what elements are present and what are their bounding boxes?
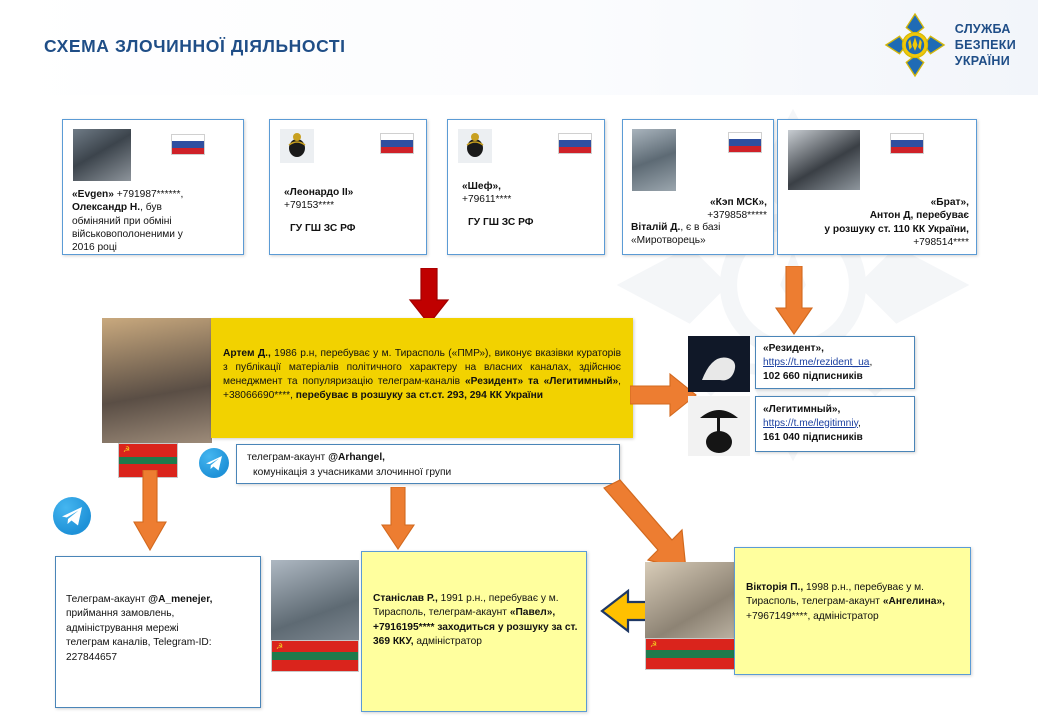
person-photo: [73, 129, 131, 181]
arrow-top-to-channels: [772, 266, 816, 338]
sbu-logo-text: СЛУЖБА БЕЗПЕКИ УКРАЇНИ: [955, 21, 1016, 69]
transnistria-flag-icon: ☭: [645, 638, 737, 670]
arhangel-handle: @Arhangel,: [328, 452, 385, 463]
channel-subscribers: 161 040 пiдписникiв: [763, 432, 863, 443]
account-line-4: телеграм каналiв, Telegram-ID:: [66, 637, 212, 648]
phone: +79611****: [462, 194, 511, 205]
telegram-icon-standalone: [53, 497, 91, 535]
center-wanted: перебуває в розшуку за ст.ст. 293, 294 К…: [296, 390, 543, 401]
account-line-2: приймання замовлень,: [66, 608, 174, 619]
nickname: «Шеф»,: [462, 181, 501, 192]
arhangel-account-box[interactable]: телеграм-акаунт @Arhangel, комунiкацiя з…: [236, 444, 620, 484]
person-card-evgen[interactable]: «Evgen» +791987******, Олександр Н., був…: [62, 119, 244, 255]
channel-info: «Легитимный», https://t.me/legitimniy, 1…: [763, 403, 915, 444]
person-details: «Evgen» +791987******, Олександр Н., був…: [72, 188, 240, 254]
channel-card-legitimniy[interactable]: «Легитимный», https://t.me/legitimniy, 1…: [755, 396, 915, 452]
nickname: «Леонардо II»: [284, 187, 353, 198]
person-card-stanislav[interactable]: Станiслав Р., 1991 р.н., перебуває у м. …: [361, 551, 587, 712]
desc-line-3: обмiняний при обмiнi: [72, 216, 172, 227]
person-card-leonardo[interactable]: «Леонардо II» +79153**** ГУ ГШ ЗС РФ: [269, 119, 427, 255]
unit: ГУ ГШ ЗС РФ: [468, 217, 533, 228]
desc-line-4: вiйськовополоненими у: [72, 229, 183, 240]
logo-line-2: БЕЗПЕКИ: [955, 37, 1016, 53]
person-card-kep-msk[interactable]: «Кэп МСК», +379858***** Вiталiй Д., є в …: [622, 119, 774, 255]
person-details: Вiталiй Д., є в базi «Миротворець»: [631, 221, 775, 248]
account-label: Телеграм-акаунт: [66, 594, 148, 605]
channel-link[interactable]: https://t.me/legitimniy: [763, 418, 858, 429]
nickname: «Брат»,: [931, 197, 969, 208]
account-handle: @A_menejer,: [148, 594, 212, 605]
telegram-icon: [199, 448, 229, 478]
desc-part: , є в базi: [680, 222, 720, 233]
infographic-page: СХЕМА ЗЛОЧИННОЇ ДІЯЛЬНОСТІ СЛУЖБА БЕЗПЕК…: [0, 0, 1038, 718]
person-photo: [632, 129, 676, 191]
channel-avatar-legitimniy: [688, 396, 750, 456]
person-nickname-block: «Кэп МСК», +379858*****: [625, 196, 767, 223]
link-suffix: ,: [869, 357, 872, 368]
person-details: Вiкторiя П., 1998 р.н., перебуває у м. Т…: [746, 581, 962, 624]
ru-flag-icon: [728, 132, 762, 153]
phone: +379858*****: [707, 210, 767, 221]
logo-line-3: УКРАЇНИ: [955, 53, 1016, 69]
channel-card-rezident[interactable]: «Резидент», https://t.me/rezident_ua, 10…: [755, 336, 915, 389]
person-details: «Брат», Антон Д, перебуває у розшуку ст.…: [781, 196, 969, 249]
arhangel-desc: комунiкацiя з учасниками злочинної групи: [253, 467, 451, 478]
person-details: «Шеф», +79611**** ГУ ГШ ЗС РФ: [462, 180, 602, 229]
link-suffix: ,: [858, 418, 861, 429]
person-role: адмiнiстратор: [414, 636, 482, 647]
phone: +79153****: [284, 200, 334, 211]
arhangel-label: телеграм-акаунт: [247, 452, 328, 463]
real-name: Вiталiй Д.: [631, 222, 680, 233]
person-name: Вiкторiя П.,: [746, 582, 803, 593]
hammer-sickle-glyph: ☭: [276, 643, 283, 651]
account-card-a-menejer[interactable]: Телеграм-акаунт @A_menejer, приймання за…: [55, 556, 261, 708]
database-name: «Миротворець»: [631, 235, 706, 246]
nickname: «Кэп МСК»,: [710, 197, 767, 208]
person-details: Станiслав Р., 1991 р.н., перебуває у м. …: [373, 592, 578, 650]
account-line-3: адмiнiстрування мережi: [66, 623, 179, 634]
gru-emblem-icon: [458, 129, 492, 163]
arrow-center-to-stanislav: [379, 487, 417, 553]
gru-emblem-icon: [280, 129, 314, 163]
real-name: Олександр Н.: [72, 202, 140, 213]
desc-line-5: 2016 роцi: [72, 242, 117, 253]
account-info: Телеграм-акаунт @A_menejer, приймання за…: [66, 593, 254, 665]
center-channels: «Резидент» та «Легитимный»: [465, 376, 618, 387]
person-card-brat[interactable]: «Брат», Антон Д, перебуває у розшуку ст.…: [777, 119, 977, 255]
sbu-logo: СЛУЖБА БЕЗПЕКИ УКРАЇНИ: [884, 12, 1016, 78]
sbu-emblem-icon: [884, 12, 946, 78]
channel-name: «Легитимный»,: [763, 404, 840, 415]
nickname: «Evgen»: [72, 189, 114, 200]
channel-info: «Резидент», https://t.me/rezident_ua, 10…: [763, 342, 913, 383]
arhangel-info: телеграм-акаунт @Arhangel, комунiкацiя з…: [247, 451, 615, 481]
person-name: Станiслав Р.,: [373, 593, 438, 604]
person-card-shef[interactable]: «Шеф», +79611**** ГУ ГШ ЗС РФ: [447, 119, 605, 255]
real-name: Антон Д, перебуває: [870, 210, 969, 221]
person-photo: [788, 130, 860, 190]
center-name: Артем Д.,: [223, 348, 271, 359]
arrow-center-to-menejer: [131, 470, 169, 554]
center-person-photo: [102, 318, 212, 443]
phone: +791987******,: [114, 189, 183, 200]
channel-name: «Резидент»,: [763, 343, 824, 354]
hammer-sickle-glyph: ☭: [650, 641, 657, 649]
person-card-viktoria[interactable]: Вiкторiя П., 1998 р.н., перебуває у м. Т…: [734, 547, 971, 675]
channel-link[interactable]: https://t.me/rezident_ua: [763, 357, 869, 368]
ru-flag-icon: [380, 133, 414, 154]
ru-flag-icon: [890, 133, 924, 154]
logo-line-1: СЛУЖБА: [955, 21, 1016, 37]
phone: +798514****: [913, 237, 969, 248]
hammer-sickle-glyph: ☭: [123, 446, 130, 454]
center-description-box: Артем Д., 1986 р.н, перебуває у м. Тирас…: [211, 318, 633, 438]
wanted-status: у розшуку ст. 110 КК України,: [824, 224, 969, 235]
desc-part: , був: [140, 202, 162, 213]
person-details: «Леонардо II» +79153**** ГУ ГШ ЗС РФ: [284, 186, 424, 235]
person-account: «Ангелина»,: [883, 596, 945, 607]
channel-subscribers: 102 660 пiдписникiв: [763, 371, 863, 382]
page-title: СХЕМА ЗЛОЧИННОЇ ДІЯЛЬНОСТІ: [44, 36, 346, 57]
transnistria-flag-icon: ☭: [271, 640, 359, 672]
account-telegram-id: 227844657: [66, 652, 117, 663]
ru-flag-icon: [558, 133, 592, 154]
center-description-text: Артем Д., 1986 р.н, перебуває у м. Тирас…: [223, 347, 621, 403]
person-phone-role: +7967149****, адмiнiстратор: [746, 611, 879, 622]
arrow-center-to-viktoria: [596, 478, 692, 570]
channel-avatar-rezident: [688, 336, 750, 392]
ru-flag-icon: [171, 134, 205, 155]
unit: ГУ ГШ ЗС РФ: [290, 223, 355, 234]
